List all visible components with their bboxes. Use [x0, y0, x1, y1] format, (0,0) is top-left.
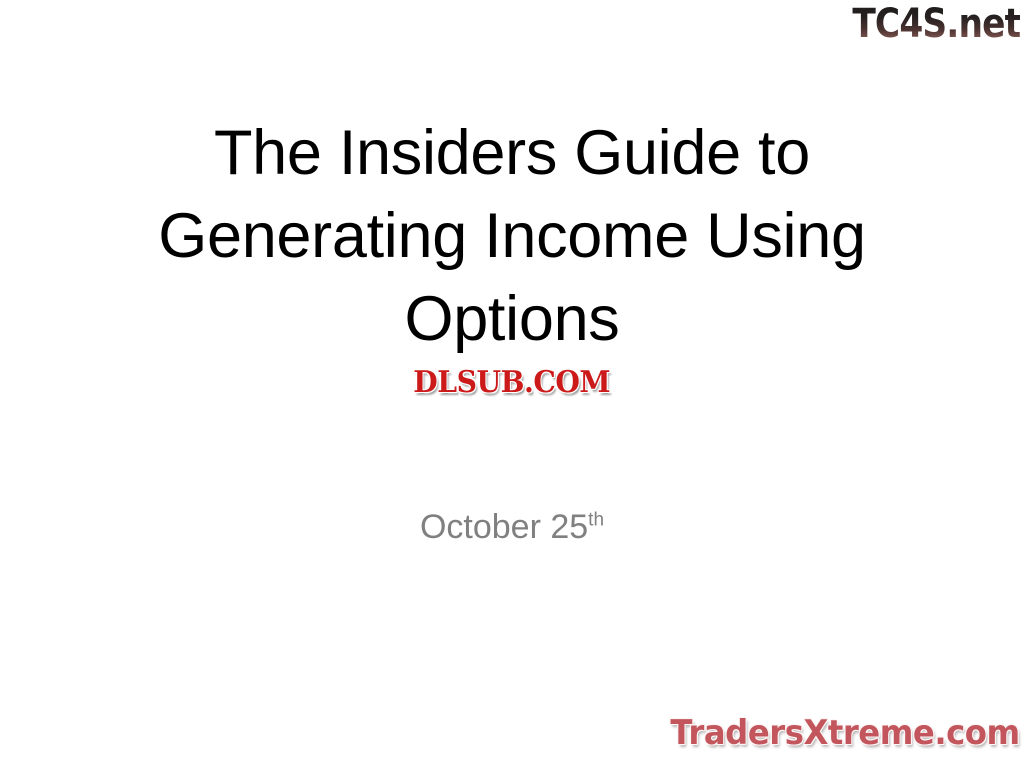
- title-line-1: The Insiders Guide to: [62, 112, 962, 195]
- dlsub-watermark: DLSUB.COM: [366, 365, 658, 401]
- tc4s-watermark: TC4S.net: [852, 2, 1020, 46]
- subtitle-date-ordinal: th: [588, 510, 604, 531]
- dlsub-watermark-text: DLSUB.COM: [414, 368, 611, 398]
- tradersxtreme-watermark: TradersXtreme.com: [671, 714, 1020, 752]
- subtitle-date: October 25: [420, 508, 588, 546]
- title-line-2: Generating Income Using: [62, 195, 962, 278]
- title-line-3: Options: [62, 278, 962, 361]
- presentation-slide: TC4S.net The Insiders Guide to Generatin…: [0, 0, 1024, 768]
- slide-title: The Insiders Guide to Generating Income …: [62, 112, 962, 361]
- slide-subtitle: October 25th: [62, 506, 962, 548]
